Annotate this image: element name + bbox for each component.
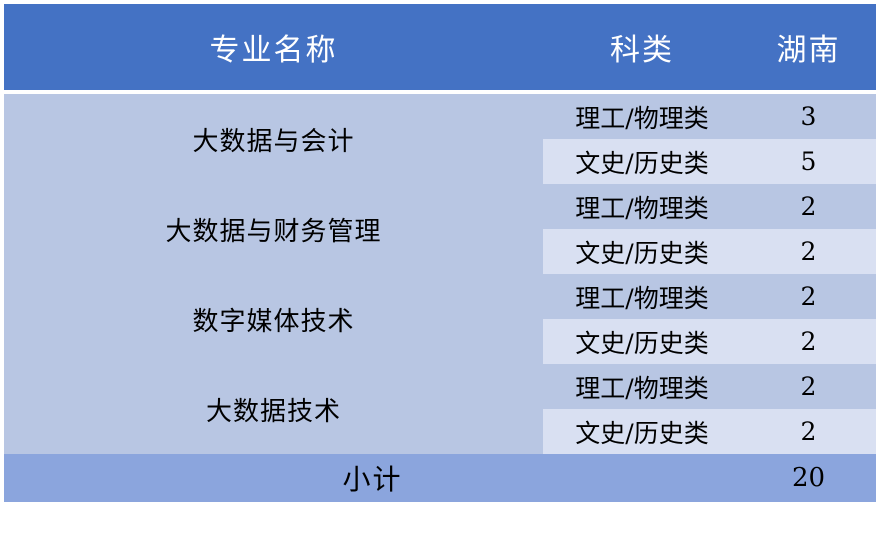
category-cell: 文史/历史类 xyxy=(543,409,741,454)
province-value-cell: 5 xyxy=(741,139,876,184)
category-cell: 理工/物理类 xyxy=(543,364,741,409)
province-value-cell: 2 xyxy=(741,229,876,274)
category-cell: 理工/物理类 xyxy=(543,274,741,319)
table-row: 大数据与会计 理工/物理类 3 xyxy=(4,94,876,139)
major-name-cell: 数字媒体技术 xyxy=(4,274,543,364)
major-name-cell: 大数据与会计 xyxy=(4,94,543,184)
column-header-category: 科类 xyxy=(543,4,741,90)
column-header-major: 专业名称 xyxy=(4,4,543,90)
province-value-cell: 2 xyxy=(741,409,876,454)
enrollment-plan-table: 专业名称 科类 湖南 大数据与会计 理工/物理类 3 文史/历史类 5 xyxy=(4,4,876,502)
province-value-cell: 2 xyxy=(741,319,876,364)
province-value-cell: 2 xyxy=(741,274,876,319)
header-row: 专业名称 科类 湖南 xyxy=(4,4,876,90)
category-cell: 文史/历史类 xyxy=(543,139,741,184)
total-row: 小计 20 xyxy=(4,454,876,502)
table-row: 大数据与财务管理 理工/物理类 2 xyxy=(4,184,876,229)
table-header: 专业名称 科类 湖南 xyxy=(4,4,876,90)
category-cell: 理工/物理类 xyxy=(543,94,741,139)
category-cell: 文史/历史类 xyxy=(543,229,741,274)
table-row: 大数据技术 理工/物理类 2 xyxy=(4,364,876,409)
table-row: 数字媒体技术 理工/物理类 2 xyxy=(4,274,876,319)
total-value-cell: 20 xyxy=(741,454,876,502)
enrollment-table-container: 专业名称 科类 湖南 大数据与会计 理工/物理类 3 文史/历史类 5 xyxy=(4,4,876,538)
category-cell: 理工/物理类 xyxy=(543,184,741,229)
major-name-cell: 大数据与财务管理 xyxy=(4,184,543,274)
province-value-cell: 3 xyxy=(741,94,876,139)
total-label-cell: 小计 xyxy=(4,454,741,502)
province-value-cell: 2 xyxy=(741,364,876,409)
province-value-cell: 2 xyxy=(741,184,876,229)
category-cell: 文史/历史类 xyxy=(543,319,741,364)
major-name-cell: 大数据技术 xyxy=(4,364,543,454)
column-header-province: 湖南 xyxy=(741,4,876,90)
table-body: 大数据与会计 理工/物理类 3 文史/历史类 5 大数据与财务管理 理工/物理类… xyxy=(4,90,876,502)
